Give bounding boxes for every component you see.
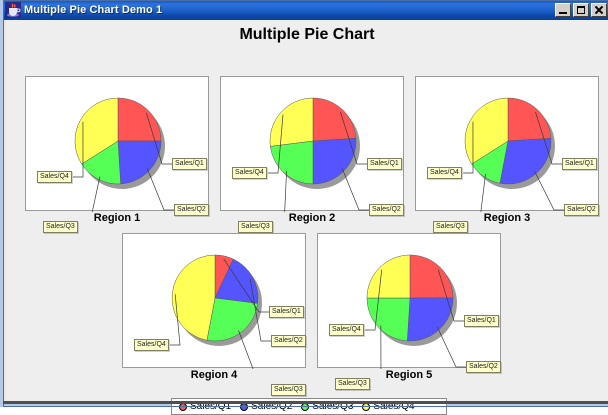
- chart-canvas: Multiple Pie Chart Sales/Q1Sales/Q2Sales…: [6, 20, 608, 401]
- java-coffee-cup-icon: [5, 2, 21, 18]
- slice-label: Sales/Q4: [134, 339, 169, 351]
- page-title: Multiple Pie Chart: [6, 26, 608, 44]
- panel-caption: Region 5: [317, 369, 501, 381]
- window-controls: [555, 3, 608, 17]
- pie-panel: Sales/Q1Sales/Q2Sales/Q3Sales/Q4: [122, 233, 306, 368]
- slice-label: Sales/Q4: [329, 324, 364, 336]
- pie-slice: [407, 298, 453, 341]
- pie-panel: Sales/Q1Sales/Q2Sales/Q3Sales/Q4: [317, 233, 501, 368]
- pie-panel: Sales/Q1Sales/Q2Sales/Q3Sales/Q4: [220, 76, 404, 211]
- pie-slice: [367, 255, 410, 298]
- pie-graphic: [221, 77, 405, 212]
- label-leader-line: [79, 177, 100, 212]
- pie-slice: [313, 138, 356, 184]
- pie-panel: Sales/Q1Sales/Q2Sales/Q3Sales/Q4: [25, 76, 209, 211]
- pie-slice: [367, 298, 410, 341]
- slice-label: Sales/Q4: [232, 167, 267, 179]
- panel-caption: Region 4: [122, 369, 306, 381]
- pie-graphic: [416, 77, 600, 212]
- label-leader-line: [274, 171, 287, 212]
- slice-label: Sales/Q1: [367, 158, 402, 170]
- slice-label: Sales/Q1: [172, 158, 207, 170]
- pie-graphic: [318, 234, 502, 369]
- slice-label: Sales/Q4: [37, 171, 72, 183]
- pie-slice: [313, 98, 356, 141]
- pie-slice: [508, 98, 551, 141]
- label-leader-line: [371, 325, 381, 369]
- panel-caption: Region 2: [220, 212, 404, 224]
- panel-caption: Region 3: [415, 212, 599, 224]
- slice-label: Sales/Q4: [427, 167, 462, 179]
- slice-label: Sales/Q1: [269, 306, 304, 318]
- pie-slice: [118, 141, 161, 184]
- maximize-button[interactable]: [573, 3, 589, 17]
- slice-label: Sales/Q1: [464, 315, 499, 327]
- minimize-button[interactable]: [555, 3, 571, 17]
- pie-slice: [270, 98, 313, 146]
- pie-slice: [118, 98, 161, 141]
- title-bar[interactable]: Multiple Pie Chart Demo 1: [3, 0, 608, 20]
- window-bottom-edge: [3, 401, 608, 404]
- pie-slice: [500, 138, 551, 184]
- application-window: Multiple Pie Chart Demo 1 Multiple Pie C…: [0, 0, 608, 407]
- panel-caption: Region 1: [25, 212, 209, 224]
- pie-slice: [270, 141, 313, 184]
- slice-label: Sales/Q2: [271, 335, 306, 347]
- pie-graphic: [26, 77, 210, 212]
- slice-label: Sales/Q3: [271, 384, 306, 396]
- label-leader-line: [469, 174, 486, 212]
- pie-slice: [207, 298, 258, 341]
- window-title: Multiple Pie Chart Demo 1: [24, 4, 162, 16]
- pie-panel: Sales/Q1Sales/Q2Sales/Q3Sales/Q4: [415, 76, 599, 211]
- slice-label: Sales/Q1: [562, 158, 597, 170]
- close-button[interactable]: [591, 3, 607, 17]
- pie-slice: [410, 255, 453, 298]
